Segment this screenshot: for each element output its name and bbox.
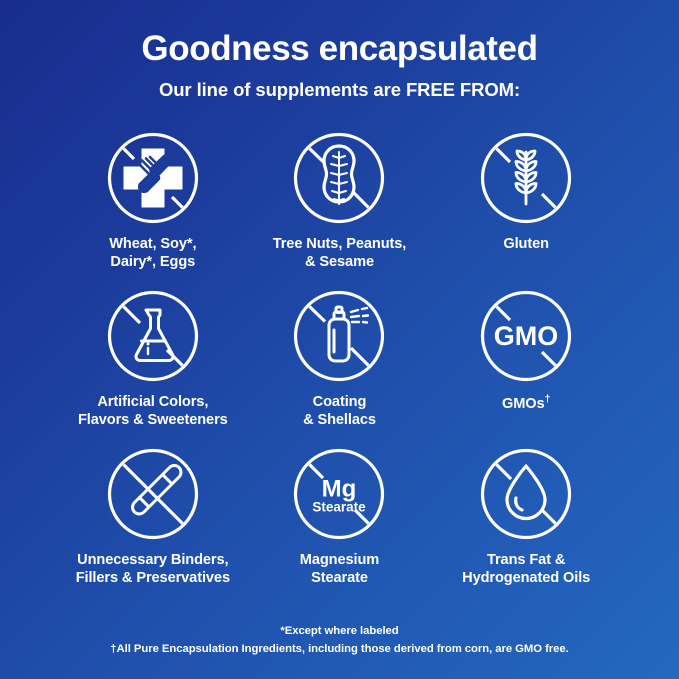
free-from-item-coating-shellacs: Coating & Shellacs	[246, 290, 433, 448]
free-from-item-artificial-colors: Artificial Colors, Flavors & Sweeteners	[60, 290, 247, 448]
no-wheat-soy-dairy-eggs-icon	[107, 132, 199, 224]
no-trans-fat-droplet-icon	[480, 448, 572, 540]
free-from-item-label: Artificial Colors, Flavors & Sweeteners	[78, 393, 228, 430]
free-from-item-label: Wheat, Soy*, Dairy*, Eggs	[109, 235, 196, 272]
no-gmo-icon: GMO	[480, 290, 572, 382]
free-from-item-label: Coating & Shellacs	[303, 393, 376, 430]
free-from-item-label-text: GMOs	[502, 396, 545, 412]
footnotes: *Except where labeled †All Pure Encapsul…	[0, 623, 679, 658]
free-from-item-label: Magnesium Stearate	[300, 551, 379, 588]
free-from-item-gluten: Gluten	[433, 132, 620, 290]
free-from-item-wheat-soy-dairy-eggs: Wheat, Soy*, Dairy*, Eggs	[60, 132, 247, 290]
no-coating-spray-can-icon	[293, 290, 385, 382]
no-artificial-colors-flask-icon	[107, 290, 199, 382]
free-from-item-tree-nuts-peanuts-sesame: Tree Nuts, Peanuts, & Sesame	[246, 132, 433, 290]
no-magnesium-stearate-icon: Mg Stearate	[293, 448, 385, 540]
free-from-item-trans-fat-hydrogenated-oils: Trans Fat & Hydrogenated Oils	[433, 448, 620, 606]
gmo-icon-text: GMO	[494, 321, 559, 351]
free-from-item-label: Tree Nuts, Peanuts, & Sesame	[273, 235, 407, 272]
stearate-icon-text: Stearate	[313, 499, 367, 514]
free-from-item-magnesium-stearate: Mg Stearate Magnesium Stearate	[246, 448, 433, 606]
page-title: Goodness encapsulated	[141, 31, 537, 68]
no-peanut-tree-nuts-icon	[293, 132, 385, 224]
no-binders-dropper-icon	[107, 448, 199, 540]
mg-icon-text: Mg	[322, 475, 357, 502]
free-from-infographic: Goodness encapsulated Our line of supple…	[0, 0, 679, 679]
free-from-item-label: Trans Fat & Hydrogenated Oils	[462, 551, 590, 588]
page-subtitle: Our line of supplements are FREE FROM:	[159, 79, 520, 101]
dagger-superscript: †	[545, 393, 551, 405]
free-from-item-binders-fillers-preservatives: Unnecessary Binders, Fillers & Preservat…	[60, 448, 247, 606]
free-from-item-label: GMOs†	[502, 393, 550, 414]
footnote-asterisk: *Except where labeled	[0, 623, 679, 641]
no-gluten-wheat-stalk-icon	[480, 132, 572, 224]
free-from-item-gmos: GMO GMOs†	[433, 290, 620, 448]
footnote-dagger: †All Pure Encapsulation Ingredients, inc…	[0, 641, 679, 659]
free-from-grid: Wheat, Soy*, Dairy*, Eggs	[60, 132, 620, 606]
free-from-item-label: Gluten	[503, 235, 549, 254]
free-from-item-label: Unnecessary Binders, Fillers & Preservat…	[76, 551, 230, 588]
